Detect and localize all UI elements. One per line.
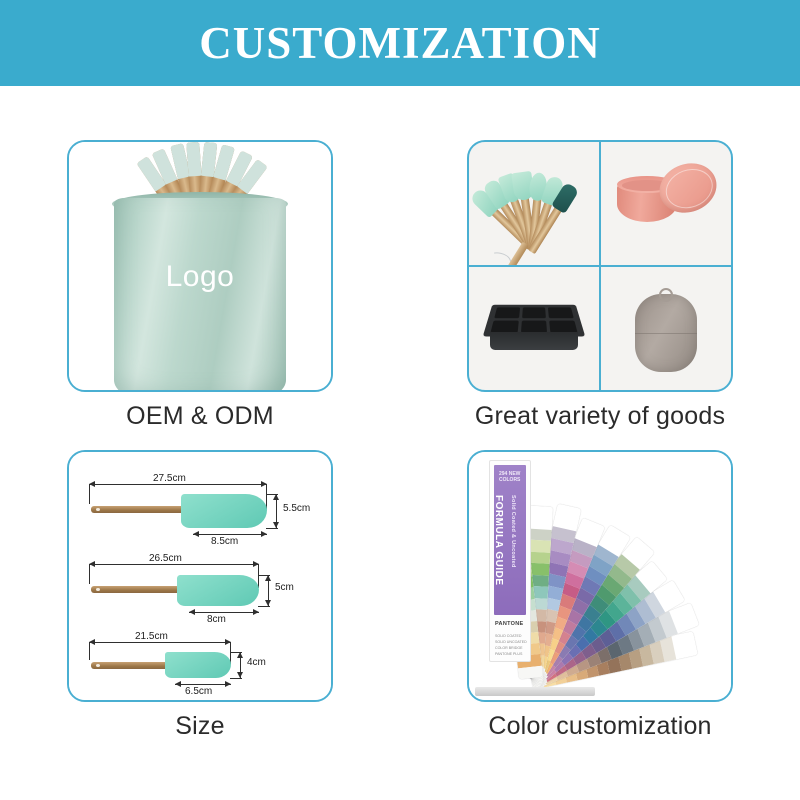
- width-dimension-line-3: [175, 684, 231, 685]
- goods-cell-ice-cube-tray[interactable]: [469, 267, 599, 390]
- pantone-guide-cover: 294 NEW COLORS FORMULA GUIDE Solid Coate…: [489, 460, 531, 662]
- width-label-1: 8.5cm: [209, 536, 240, 547]
- size-row-large: 27.5cm 5.5cm 8.5cm: [69, 470, 331, 550]
- length-label-2: 26.5cm: [147, 553, 184, 564]
- pantone-new-colors-note: 294 NEW COLORS: [499, 471, 526, 484]
- height-dimension-line-2: [268, 575, 269, 606]
- panel-color-customization[interactable]: 294 NEW COLORS FORMULA GUIDE Solid Coate…: [467, 450, 733, 702]
- feature-cell-color: 294 NEW COLORS FORMULA GUIDE Solid Coate…: [425, 450, 775, 741]
- oval-mat-icon: [635, 294, 697, 372]
- goods-cell-round-container[interactable]: [601, 142, 731, 265]
- caption-color-customization: Color customization: [425, 712, 775, 741]
- logo-placeholder: Logo: [69, 260, 331, 294]
- width-dimension-line-2: [189, 612, 259, 613]
- size-diagram: 27.5cm 5.5cm 8.5cm: [69, 452, 331, 700]
- length-label-3: 21.5cm: [133, 631, 170, 642]
- feature-cell-oem-odm: Logo OEM & ODM: [25, 140, 375, 431]
- crock-body: [114, 198, 286, 392]
- height-label-3: 4cm: [245, 657, 268, 668]
- panel-variety-of-goods[interactable]: [467, 140, 733, 392]
- pantone-guide-subtitle: Solid Coated & Uncoated: [510, 495, 516, 605]
- caption-oem-odm: OEM & ODM: [25, 402, 375, 431]
- size-row-medium: 26.5cm 5cm 8cm: [69, 552, 331, 630]
- pantone-cover-panel: 294 NEW COLORS FORMULA GUIDE Solid Coate…: [494, 465, 526, 615]
- panel-oem-odm[interactable]: Logo: [67, 140, 333, 392]
- goods-grid: [469, 142, 731, 390]
- pantone-brand-label: PANTONE: [495, 621, 523, 627]
- utensil-set-icon: [474, 158, 594, 254]
- pantone-fine-print: SOLID COATED SOLID UNCOATED COLOR BRIDGE…: [495, 633, 530, 657]
- width-label-3: 6.5cm: [183, 686, 214, 697]
- size-row-small: 21.5cm 4cm 6.5cm: [69, 630, 331, 702]
- utensil-crock-image: Logo: [69, 142, 331, 390]
- height-label-2: 5cm: [273, 582, 296, 593]
- width-label-2: 8cm: [205, 614, 228, 625]
- height-dimension-line-3: [240, 652, 241, 678]
- height-label-1: 5.5cm: [281, 503, 312, 514]
- page-title: CUSTOMIZATION: [199, 21, 600, 66]
- feature-cell-variety: Great variety of goods: [425, 140, 775, 431]
- panel-size[interactable]: 27.5cm 5.5cm 8.5cm: [67, 450, 333, 702]
- length-label-1: 27.5cm: [151, 473, 188, 484]
- goods-cell-oval-mat[interactable]: [601, 267, 731, 390]
- feature-cell-size: 27.5cm 5.5cm 8.5cm: [25, 450, 375, 741]
- goods-cell-utensil-set[interactable]: [469, 142, 599, 265]
- pantone-fan-base: [475, 687, 595, 696]
- page-header-banner: CUSTOMIZATION: [0, 0, 800, 86]
- width-dimension-line-1: [193, 534, 267, 535]
- length-dimension-line-2: [89, 564, 259, 565]
- length-dimension-line-3: [89, 642, 231, 643]
- height-dimension-line-1: [276, 494, 277, 528]
- pantone-fan-deck-image: 294 NEW COLORS FORMULA GUIDE Solid Coate…: [469, 452, 731, 700]
- caption-size: Size: [25, 712, 375, 741]
- caption-variety-of-goods: Great variety of goods: [425, 402, 775, 431]
- ice-cube-tray-icon: [482, 299, 586, 363]
- length-dimension-line-1: [89, 484, 267, 485]
- feature-grid: Logo OEM & ODM: [0, 86, 800, 800]
- pantone-guide-title: FORMULA GUIDE: [493, 495, 504, 605]
